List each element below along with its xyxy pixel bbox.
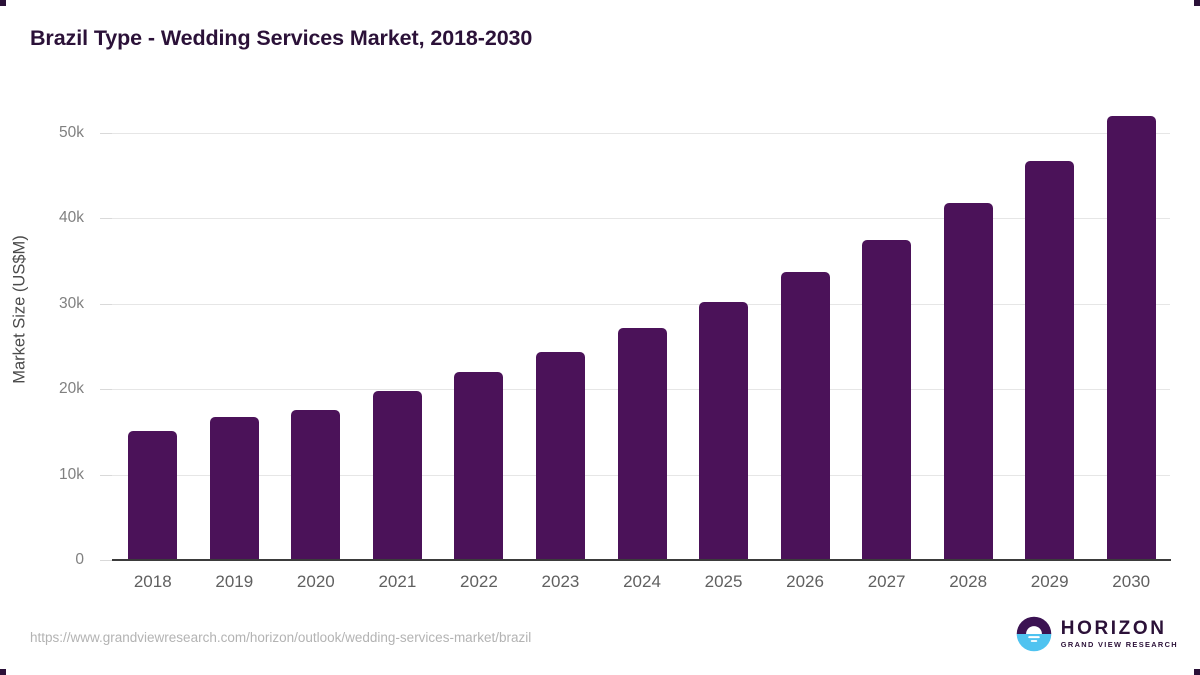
- frame-corner-mark-bottom-left: [0, 669, 6, 675]
- y-tick-label: 10k: [4, 467, 84, 483]
- page-title: Brazil Type - Wedding Services Market, 2…: [30, 26, 532, 51]
- bar-2021[interactable]: [373, 391, 422, 560]
- logo-text-block: HORIZON GRAND VIEW RESEARCH: [1061, 619, 1178, 648]
- frame-corner-mark-top-right: [1194, 0, 1200, 6]
- bar-2020[interactable]: [291, 410, 340, 560]
- x-tick-label-2022: 2022: [434, 572, 524, 592]
- x-tick-label-2029: 2029: [1005, 572, 1095, 592]
- gridline: [112, 304, 1170, 305]
- bar-2019[interactable]: [210, 417, 259, 560]
- x-tick-label-2020: 2020: [271, 572, 361, 592]
- bar-2029[interactable]: [1025, 161, 1074, 560]
- bar-2025[interactable]: [699, 302, 748, 560]
- y-tick-mark: [100, 389, 112, 390]
- bar-2026[interactable]: [781, 272, 830, 560]
- bar-2030[interactable]: [1107, 116, 1156, 560]
- chart-page: Brazil Type - Wedding Services Market, 2…: [0, 0, 1200, 675]
- y-tick-mark: [100, 475, 112, 476]
- x-tick-label-2023: 2023: [515, 572, 605, 592]
- gridline: [112, 218, 1170, 219]
- bar-2028[interactable]: [944, 203, 993, 560]
- y-tick-label: 30k: [4, 296, 84, 312]
- y-tick-mark: [100, 133, 112, 134]
- gridline: [112, 133, 1170, 134]
- y-tick-mark: [100, 304, 112, 305]
- x-tick-label-2021: 2021: [352, 572, 442, 592]
- y-tick-mark: [100, 560, 112, 561]
- logo-wordmark: HORIZON: [1061, 619, 1178, 638]
- x-tick-label-2030: 2030: [1086, 572, 1176, 592]
- x-axis-baseline: [112, 559, 1171, 561]
- y-tick-mark: [100, 218, 112, 219]
- x-tick-label-2028: 2028: [923, 572, 1013, 592]
- x-tick-label-2019: 2019: [189, 572, 279, 592]
- source-url-text: https://www.grandviewresearch.com/horizo…: [30, 630, 531, 645]
- x-tick-label-2018: 2018: [108, 572, 198, 592]
- frame-corner-mark-top-left: [0, 0, 6, 6]
- y-tick-label: 0: [4, 552, 84, 568]
- x-tick-label-2026: 2026: [760, 572, 850, 592]
- horizon-logo: HORIZON GRAND VIEW RESEARCH: [1016, 616, 1178, 652]
- x-tick-label-2027: 2027: [842, 572, 932, 592]
- logo-tagline: GRAND VIEW RESEARCH: [1061, 641, 1178, 648]
- frame-corner-mark-bottom-right: [1194, 669, 1200, 675]
- y-tick-label: 50k: [4, 125, 84, 141]
- bar-2023[interactable]: [536, 352, 585, 560]
- x-tick-label-2025: 2025: [679, 572, 769, 592]
- y-tick-label: 20k: [4, 381, 84, 397]
- bar-2024[interactable]: [618, 328, 667, 560]
- bar-2022[interactable]: [454, 372, 503, 560]
- y-tick-label: 40k: [4, 210, 84, 226]
- bar-2027[interactable]: [862, 240, 911, 560]
- horizon-sun-circle-icon: [1016, 616, 1052, 652]
- x-tick-label-2024: 2024: [597, 572, 687, 592]
- bar-2018[interactable]: [128, 431, 177, 560]
- plot-area: 010k20k30k40k50k: [112, 90, 1172, 560]
